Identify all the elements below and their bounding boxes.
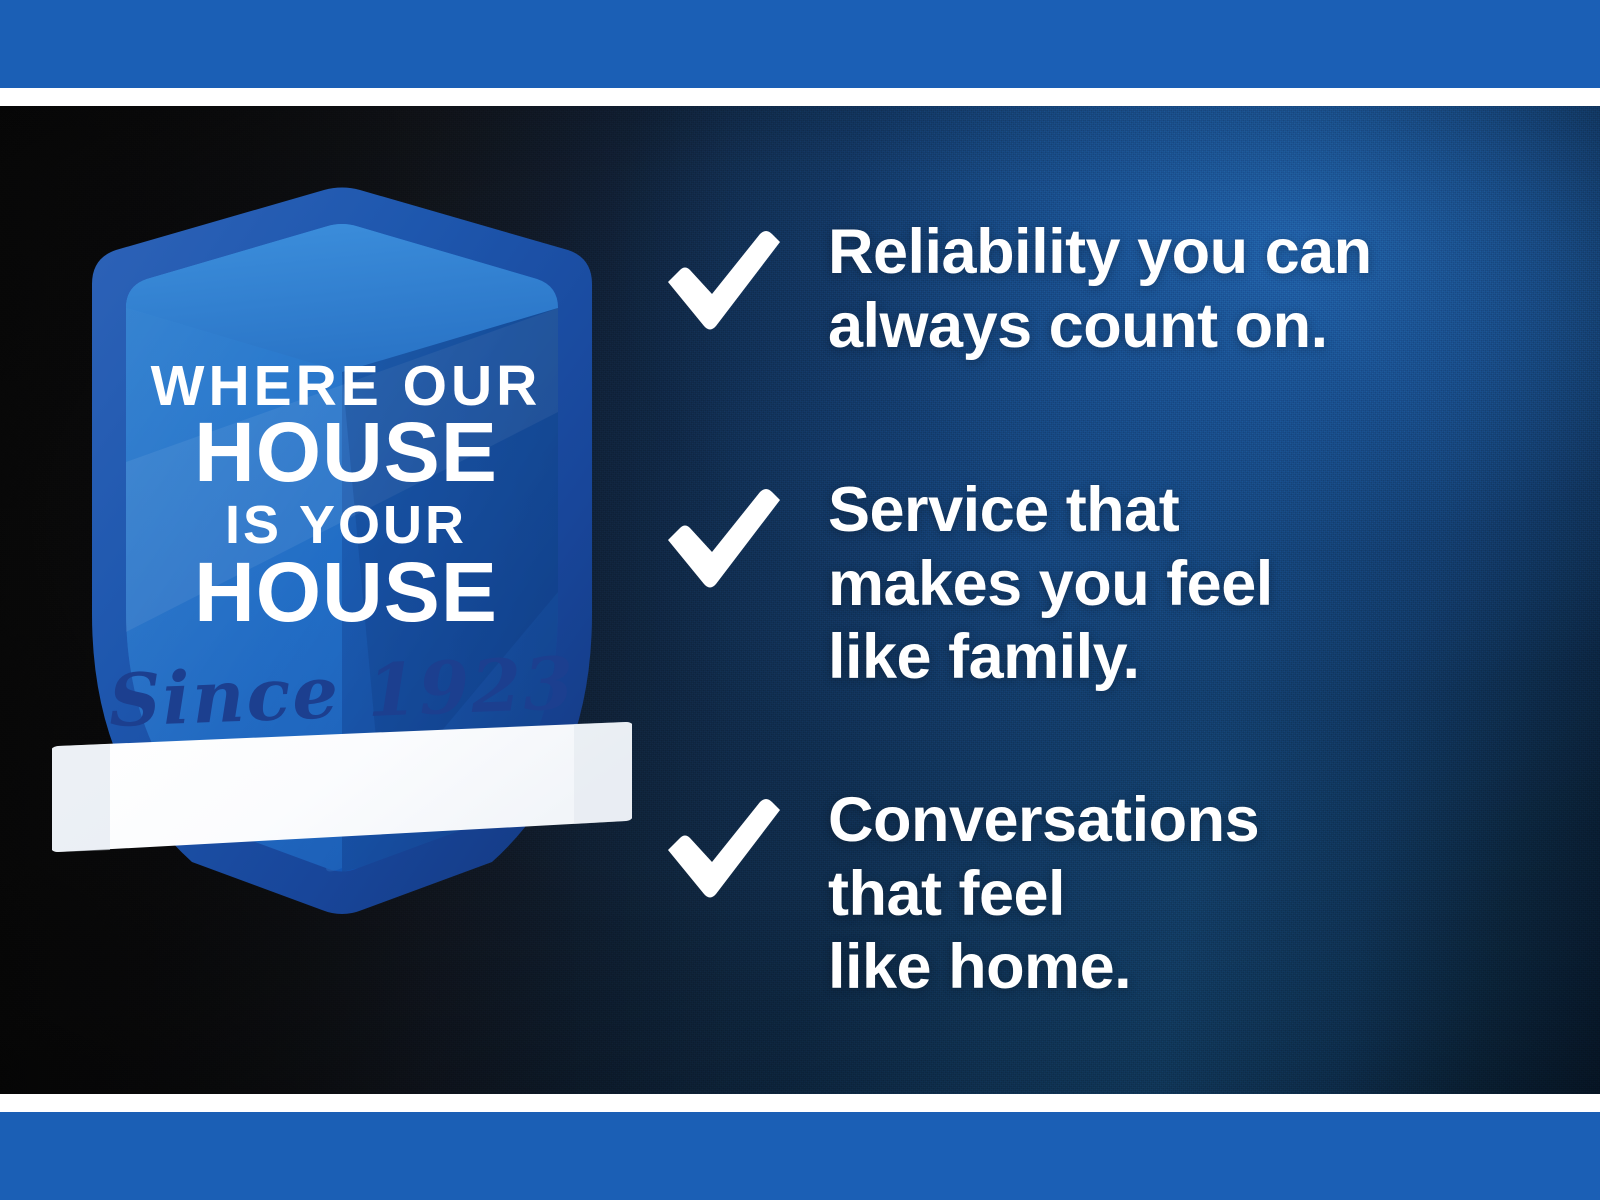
- top-white-rule: [0, 88, 1600, 106]
- benefit-text: Reliability you can always count on.: [828, 216, 1372, 363]
- benefit-text: Conversations that feel like home.: [828, 784, 1259, 1005]
- check-icon: [660, 798, 784, 902]
- shield-badge: WHERE OUR HOUSE IS YOUR HOUSE Since 1923: [52, 162, 632, 932]
- ribbon-left-fold: [52, 744, 110, 852]
- check-icon: [660, 230, 784, 334]
- benefits-list: Reliability you can always count on. Ser…: [660, 106, 1560, 1094]
- bottom-white-rule: [0, 1094, 1600, 1112]
- benefit-text: Service that makes you feel like family.: [828, 474, 1273, 695]
- bottom-brand-bar: [0, 1112, 1600, 1200]
- ribbon-right-fold: [574, 722, 632, 824]
- top-brand-bar: [0, 0, 1600, 88]
- benefit-item: Reliability you can always count on.: [660, 216, 1372, 363]
- benefit-item: Service that makes you feel like family.: [660, 474, 1273, 695]
- check-icon: [660, 488, 784, 592]
- promo-graphic: WHERE OUR HOUSE IS YOUR HOUSE Since 1923…: [0, 0, 1600, 1200]
- benefit-item: Conversations that feel like home.: [660, 784, 1259, 1005]
